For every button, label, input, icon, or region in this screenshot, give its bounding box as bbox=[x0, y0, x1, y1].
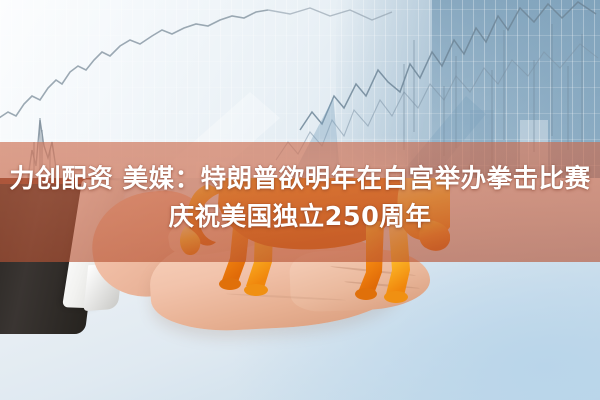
news-thumbnail: 力创配资 美媒：特朗普欲明年在白宫举办拳击比赛 庆祝美国独立250周年 bbox=[0, 0, 600, 400]
bull-hoof bbox=[355, 288, 377, 300]
bull-hoof bbox=[384, 291, 408, 303]
headline-line-2: 庆祝美国独立250周年 bbox=[0, 198, 600, 236]
bull-hoof bbox=[244, 284, 268, 296]
chart-line-rising-tail bbox=[268, 8, 392, 20]
bull-hoof bbox=[219, 278, 241, 290]
chart-line-rising bbox=[0, 10, 268, 120]
headline-line-1: 力创配资 美媒：特朗普欲明年在白宫举办拳击比赛 bbox=[0, 160, 600, 198]
headline: 力创配资 美媒：特朗普欲明年在白宫举办拳击比赛 庆祝美国独立250周年 bbox=[0, 160, 600, 236]
